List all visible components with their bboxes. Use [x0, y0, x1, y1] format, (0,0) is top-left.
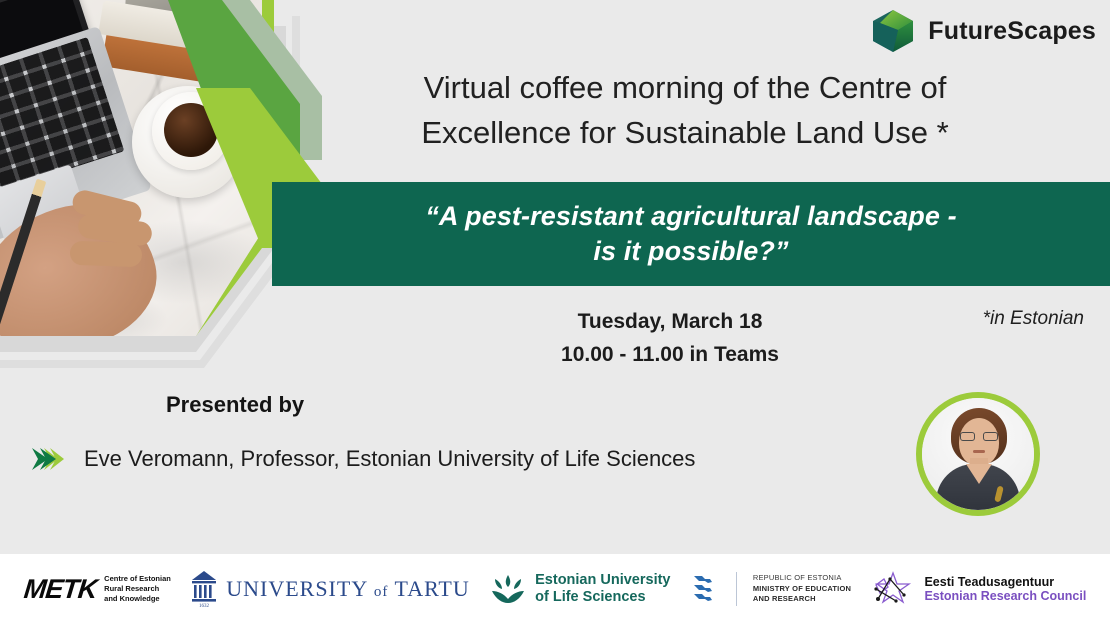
logo-ministry-of-education-and-research: REPUBLIC OF ESTONIA MINISTRY OF EDUCATIO… [690, 571, 851, 607]
banner-line-1: “A pest-resistant agricultural landscape… [302, 199, 1080, 234]
metk-subtitle-line-3: and Knowledge [104, 594, 171, 604]
brand-logo: FutureScapes [870, 8, 1096, 54]
ministry-line-1: REPUBLIC OF ESTONIA [753, 573, 851, 584]
metk-wordmark-icon: METK [22, 574, 98, 605]
event-poster: FutureScapes Virtual coffee morning of t… [0, 0, 1110, 624]
research-council-line-1: Eesti Teadusagentuur [924, 575, 1086, 589]
tartu-building-icon: 1632 [190, 569, 218, 609]
logo-university-of-tartu: 1632 UNIVERSITY of TARTU [190, 569, 470, 609]
tartu-seal-year: 1632 [199, 604, 210, 609]
logo-metk: METK Centre of Estonian Rural Research a… [24, 574, 171, 605]
futurescapes-hexagon-logo-icon [870, 8, 916, 54]
brand-name: FutureScapes [928, 17, 1096, 46]
event-time: 10.00 - 11.00 in Teams [440, 339, 900, 372]
topic-banner-text: “A pest-resistant agricultural landscape… [272, 199, 1110, 268]
life-sciences-wordmark: Estonian University of Life Sciences [535, 572, 670, 607]
ministry-line-2: MINISTRY OF EDUCATION [753, 584, 851, 595]
topic-banner: “A pest-resistant agricultural landscape… [272, 182, 1110, 286]
speaker-row: Eve Veromann, Professor, Estonian Univer… [30, 446, 695, 472]
ministry-line-3: AND RESEARCH [753, 594, 851, 605]
event-datetime: Tuesday, March 18 10.00 - 11.00 in Teams [440, 306, 900, 371]
research-council-wordmark: Eesti Teadusagentuur Estonian Research C… [924, 575, 1086, 604]
speaker-name: Eve Veromann, Professor, Estonian Univer… [84, 446, 695, 472]
headline-line-1: Virtual coffee morning of the Centre of [300, 66, 1070, 111]
divider [736, 572, 737, 606]
metk-subtitle: Centre of Estonian Rural Research and Kn… [104, 574, 171, 604]
life-sciences-leaf-icon [489, 572, 527, 606]
page-title: Virtual coffee morning of the Centre of … [300, 66, 1070, 156]
tartu-text-main: UNIVERSITY [226, 576, 367, 601]
life-sciences-line-1: Estonian University [535, 572, 670, 589]
tartu-text-of: of [374, 584, 389, 600]
life-sciences-line-2: of Life Sciences [535, 589, 670, 606]
event-date: Tuesday, March 18 [440, 306, 900, 339]
speaker-portrait [916, 392, 1040, 516]
logo-estonian-university-of-life-sciences: Estonian University of Life Sciences [489, 572, 670, 607]
metk-subtitle-line-1: Centre of Estonian [104, 574, 171, 584]
language-note: *in Estonian [983, 308, 1084, 330]
headline-line-2: Excellence for Sustainable Land Use * [300, 111, 1070, 156]
presented-by-heading: Presented by [166, 392, 304, 418]
research-council-line-2: Estonian Research Council [924, 589, 1086, 603]
tartu-text-end: TARTU [395, 576, 470, 601]
tartu-wordmark: UNIVERSITY of TARTU [226, 576, 470, 602]
estonia-three-lions-coat-of-arms-icon [690, 571, 720, 607]
ministry-wordmark: REPUBLIC OF ESTONIA MINISTRY OF EDUCATIO… [753, 573, 851, 606]
portrait-glasses [960, 432, 998, 441]
research-council-star-icon [870, 569, 916, 609]
partner-logos-footer: METK Centre of Estonian Rural Research a… [0, 554, 1110, 624]
metk-subtitle-line-2: Rural Research [104, 584, 171, 594]
logo-estonian-research-council: Eesti Teadusagentuur Estonian Research C… [870, 569, 1086, 609]
banner-line-2: is it possible?” [302, 234, 1080, 269]
double-chevron-right-icon [30, 446, 70, 472]
portrait-mouth [973, 450, 985, 453]
